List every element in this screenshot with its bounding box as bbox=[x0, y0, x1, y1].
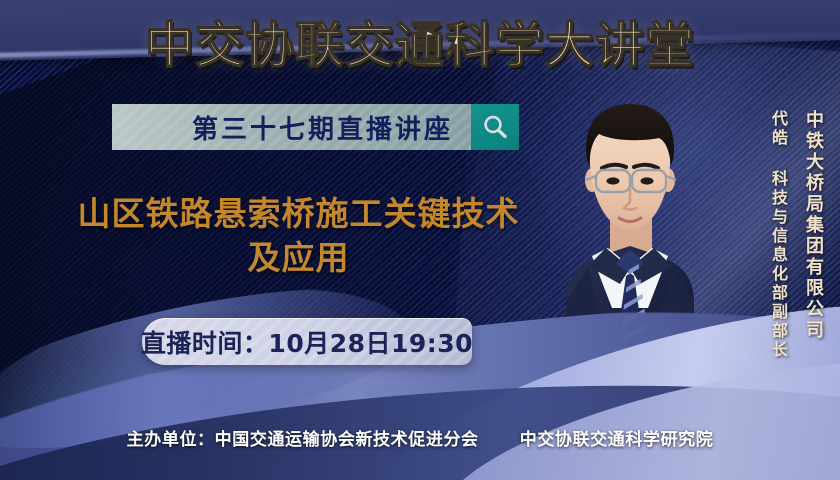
lecture-topic-line1: 山区铁路悬索桥施工关键技术 bbox=[78, 194, 520, 233]
search-icon bbox=[481, 113, 509, 141]
poster-main-title: 中交协联交通科学大讲堂 bbox=[0, 17, 840, 75]
issue-label: 第三十七期直播讲座 bbox=[192, 109, 471, 146]
speaker-organization: 中铁大桥局集团有限公司 bbox=[800, 110, 826, 341]
lecture-topic-line2: 及应用 bbox=[26, 236, 571, 280]
organizer-secondary: 中交协联交通科学研究院 bbox=[520, 430, 714, 450]
broadcast-time-label: 直播时间：10月28日19:30 bbox=[141, 324, 473, 360]
search-icon-button[interactable] bbox=[471, 104, 519, 150]
issue-banner: 第三十七期直播讲座 bbox=[112, 104, 471, 150]
organizer-footer: 主办单位：中国交通运输协会新技术促进分会 中交协联交通科学研究院 bbox=[0, 425, 840, 450]
speaker-name-title: 代皓 科技与信息化部副部长 bbox=[766, 110, 790, 360]
live-lecture-poster: 中交协联交通科学大讲堂 第三十七期直播讲座 山区铁路悬索桥施工关键技术 及应用 … bbox=[0, 0, 840, 480]
lecture-topic: 山区铁路悬索桥施工关键技术 及应用 bbox=[26, 192, 571, 280]
broadcast-time-pill: 直播时间：10月28日19:30 bbox=[142, 318, 472, 365]
organizer-primary: 主办单位：中国交通运输协会新技术促进分会 bbox=[127, 430, 479, 450]
